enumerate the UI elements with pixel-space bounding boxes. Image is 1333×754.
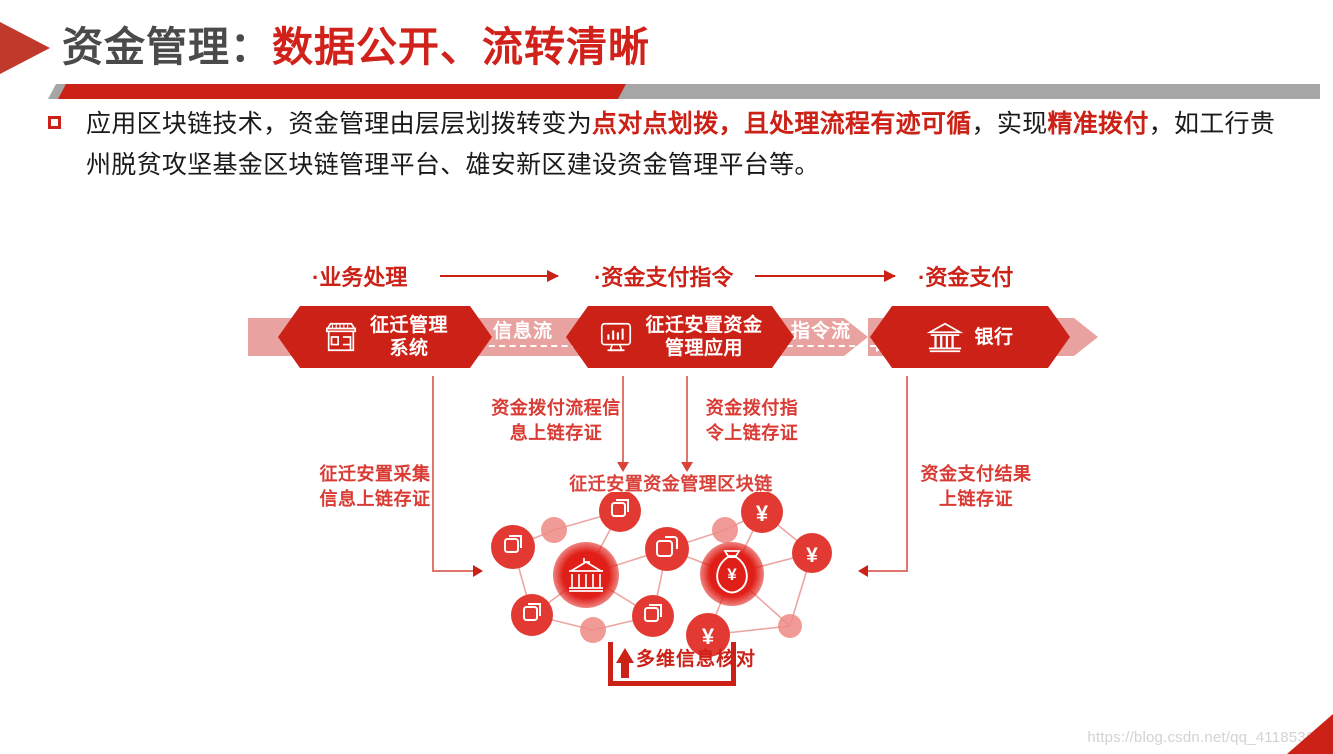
title-divider [48,84,1320,99]
bullet-text-seg-5: ，如 [1149,110,1200,138]
bullet-text-seg-1: 应用区块链技术，资金管理由层层划拨转变为 [86,110,592,138]
svg-text:¥: ¥ [756,501,769,526]
flow-band-tip-icon [1074,318,1098,356]
phase-label-business: ·业务处理 [312,260,407,292]
node-bank[interactable]: 银行 [870,306,1070,368]
annotation-left-collect: 征迁安置采集 信息上链存证 [290,462,460,512]
svg-text:¥: ¥ [806,544,818,567]
page-title-dark: 资金管理： [62,24,272,70]
square-bullet-icon [48,116,61,129]
node-fund-management-app[interactable]: 征迁安置资金 管理应用 [566,306,794,368]
verify-up-arrow-stem-icon [621,660,629,678]
annotation-flow-chain: 资金拨付流程信 息上链存证 [484,396,628,446]
annotation-instruction-chain: 资金拨付指 令上链存证 [686,396,818,446]
network-node-government-building [553,542,619,608]
blockchain-network-graph: ¥ ¥ ¥ [460,492,860,652]
title-arrow-marker [0,22,50,74]
monitor-chart-icon [597,319,635,355]
page-title: 资金管理：数据公开、流转清晰 [62,20,650,74]
store-building-icon [322,319,360,355]
bank-icon [926,319,964,355]
phase-label-payment-instruction: ·资金支付指令 [594,260,733,292]
phase-arrow-2-icon [755,275,895,277]
phase-label-payment: ·资金支付 [918,260,1013,292]
bullet-text-seg-4: 精准拨付 [1047,110,1148,138]
svg-text:¥: ¥ [727,565,737,584]
bullet-text-seg-3: ，实现 [972,110,1048,138]
page-title-red: 数据公开、流转清晰 [272,24,650,70]
network-node-money-bag: ¥ [700,542,764,606]
fund-flow-diagram: ·业务处理 ·资金支付指令 ·资金支付 信息流 指令流 [0,230,1333,730]
node-label-bank: 银行 [974,326,1013,349]
slide-root: 资金管理：数据公开、流转清晰 应用区块链技术，资金管理由层层划拨转变为点对点划拨… [0,0,1333,754]
annotation-right-result: 资金支付结果 上链存证 [896,462,1056,512]
bullet-text-seg-2: 点对点划拨，且处理流程有迹可循 [592,110,972,138]
bullet-text: 应用区块链技术，资金管理由层层划拨转变为点对点划拨，且处理流程有迹可循，实现精准… [86,104,1288,186]
corner-triangle-decoration [1287,714,1333,754]
node-label-relocation-management-system: 征迁管理 系统 [370,314,448,360]
node-label-fund-management-app: 征迁安置资金 管理应用 [645,314,762,360]
phase-arrow-1-icon [440,275,558,277]
divider-red-bar [58,84,626,99]
connector-right-horizontal-arrow-icon [868,570,908,572]
node-relocation-management-system[interactable]: 征迁管理 系统 [278,306,492,368]
phase-label-row: ·业务处理 ·资金支付指令 ·资金支付 [300,260,1040,294]
verify-label: 多维信息核对 [636,644,756,671]
bullet-row: 应用区块链技术，资金管理由层层划拨转变为点对点划拨，且处理流程有迹可循，实现精准… [48,104,1288,186]
